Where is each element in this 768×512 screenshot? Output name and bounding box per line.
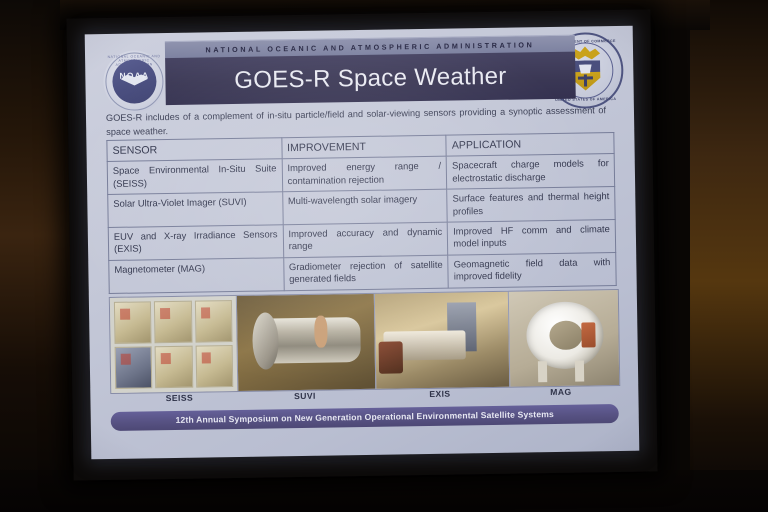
cell-sensor: Space Environmental In-Situ Suite (SEISS…: [107, 159, 282, 195]
cell-improvement: Improved energy range / contamination re…: [282, 157, 447, 192]
cell-application: Improved HF comm and climate model input…: [448, 220, 616, 255]
slide-title: GOES-R Space Weather: [165, 52, 576, 105]
room-scene: NATIONAL OCEANIC AND ATMOSPHERIC ADMINIS…: [0, 0, 768, 512]
photo-suvi: [237, 294, 376, 391]
column-header-improvement: IMPROVEMENT: [281, 135, 446, 159]
mag-stand-leg: [575, 361, 584, 382]
cell-application: Surface features and thermal height prof…: [447, 187, 615, 222]
wall-right: [690, 0, 768, 512]
photo-mag: [509, 290, 619, 387]
table-row: Magnetometer (MAG) Gradiometer rejection…: [109, 252, 616, 293]
presentation-slide: NATIONAL OCEANIC AND ATMOSPHERIC ADMINIS…: [85, 26, 640, 460]
cell-application: Geomagnetic field data with improved fid…: [448, 252, 616, 287]
cell-improvement: Improved accuracy and dynamic range: [283, 222, 448, 257]
exis-instrument-body: [378, 341, 402, 374]
cell-improvement: Multi-wavelength solar imagery: [282, 189, 447, 224]
symposium-banner-text: 12th Annual Symposium on New Generation …: [111, 404, 619, 431]
noaa-wordmark: NOAA: [103, 70, 165, 81]
seiss-photo-grid: [114, 300, 233, 389]
column-header-application: APPLICATION: [446, 133, 614, 157]
caption-suvi: SUVI: [236, 390, 373, 402]
photo-seiss: [110, 296, 238, 393]
cell-improvement: Gradiometer rejection of satellite gener…: [283, 255, 448, 290]
symposium-banner: 12th Annual Symposium on New Generation …: [111, 404, 619, 431]
slide-title-bar: GOES-R Space Weather: [165, 52, 576, 105]
seiss-thumb: [115, 346, 153, 389]
sensor-table: SENSOR IMPROVEMENT APPLICATION Space Env…: [106, 132, 616, 294]
mag-stand-leg: [538, 361, 547, 382]
seiss-thumb: [155, 346, 193, 389]
seiss-thumb: [195, 300, 233, 343]
cell-application: Spacecraft charge models for electrostat…: [446, 154, 614, 189]
caption-exis: EXIS: [373, 388, 506, 400]
caption-seiss: SEISS: [116, 392, 242, 404]
noaa-logo-icon: NATIONAL OCEANIC AND ATMOSPHERIC ADMINIS…: [103, 50, 166, 113]
suvi-technician: [314, 315, 328, 348]
seiss-thumb: [114, 301, 152, 344]
seiss-thumb: [154, 301, 192, 344]
caption-mag: MAG: [506, 386, 615, 398]
photo-exis: [375, 292, 510, 389]
cell-sensor: Solar Ultra-Violet Imager (SUVI): [108, 192, 283, 228]
cell-sensor: EUV and X-ray Irradiance Sensors (EXIS): [108, 225, 283, 261]
instrument-photo-strip: [109, 289, 620, 394]
cell-sensor: Magnetometer (MAG): [109, 258, 284, 294]
mag-accent-panel: [581, 323, 596, 348]
wall-left: [0, 0, 72, 512]
seiss-thumb: [195, 345, 233, 388]
column-header-sensor: SENSOR: [107, 138, 282, 162]
doc-anchor-icon: [584, 74, 587, 86]
